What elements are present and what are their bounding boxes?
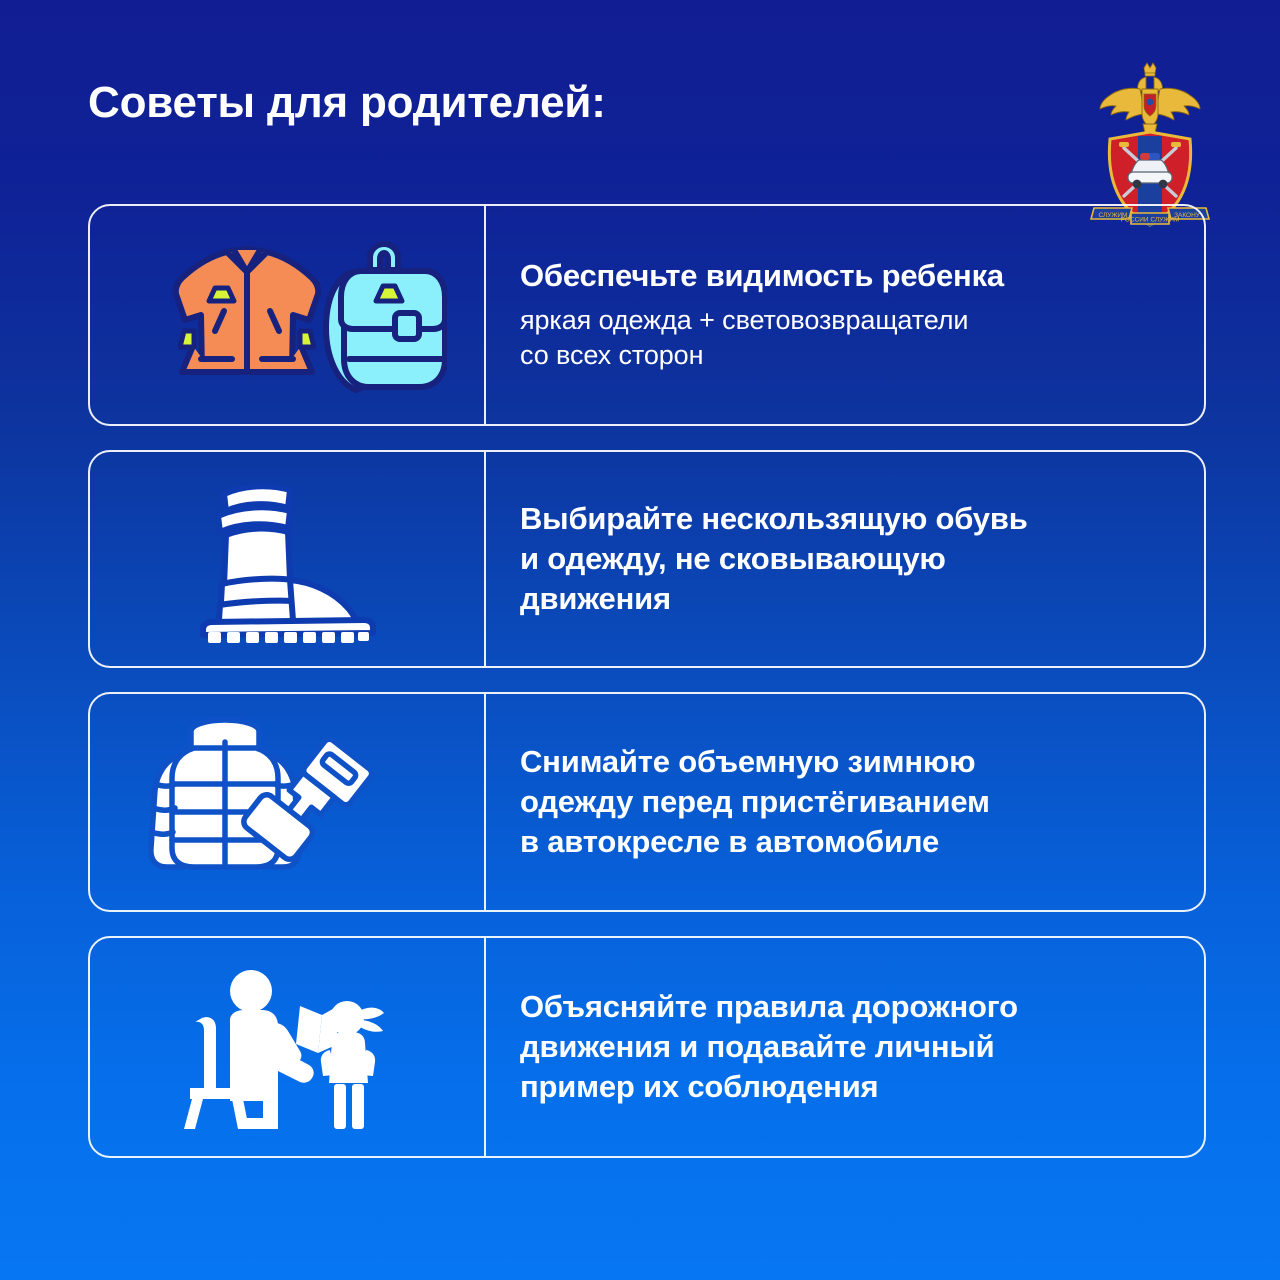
tip-card-3-headline: Снимайте объемную зимнюю одежду перед пр…	[520, 742, 1170, 862]
tip-card-2: Выбирайте нескользящую обувь и одежду, н…	[88, 450, 1206, 668]
tip-card-3-text-cell: Снимайте объемную зимнюю одежду перед пр…	[486, 694, 1204, 910]
tip-card-1: Обеспечьте видимость ребенка яркая одежд…	[88, 204, 1206, 426]
tip-card-3: Снимайте объемную зимнюю одежду перед пр…	[88, 692, 1206, 912]
tip-card-3-icon-cell	[90, 694, 486, 910]
parent-explaining-to-child-icon	[180, 962, 395, 1132]
tip-card-4-text-cell: Объясняйте правила дорожного движения и …	[486, 938, 1204, 1156]
puffer-jacket-and-seatbelt-icon	[132, 712, 442, 892]
jacket-and-backpack-icon	[127, 233, 447, 398]
tip-card-4-icon-cell	[90, 938, 486, 1156]
tip-card-1-text-cell: Обеспечьте видимость ребенка яркая одежд…	[486, 206, 1204, 424]
tip-card-1-headline: Обеспечьте видимость ребенка	[520, 256, 1170, 296]
tip-card-4-headline: Объясняйте правила дорожного движения и …	[520, 987, 1170, 1107]
winter-boot-icon	[182, 472, 392, 647]
tip-card-1-icon-cell	[90, 206, 486, 424]
tip-card-2-headline: Выбирайте нескользящую обувь и одежду, н…	[520, 499, 1170, 619]
poster-root: Советы для родителей:	[0, 0, 1280, 1280]
tip-card-4: Объясняйте правила дорожного движения и …	[88, 936, 1206, 1158]
page-title: Советы для родителей:	[88, 78, 606, 128]
tip-card-1-subline: яркая одежда + световозвращатели со всех…	[520, 303, 1170, 373]
tip-card-2-text-cell: Выбирайте нескользящую обувь и одежду, н…	[486, 452, 1204, 666]
tip-card-2-icon-cell	[90, 452, 486, 666]
